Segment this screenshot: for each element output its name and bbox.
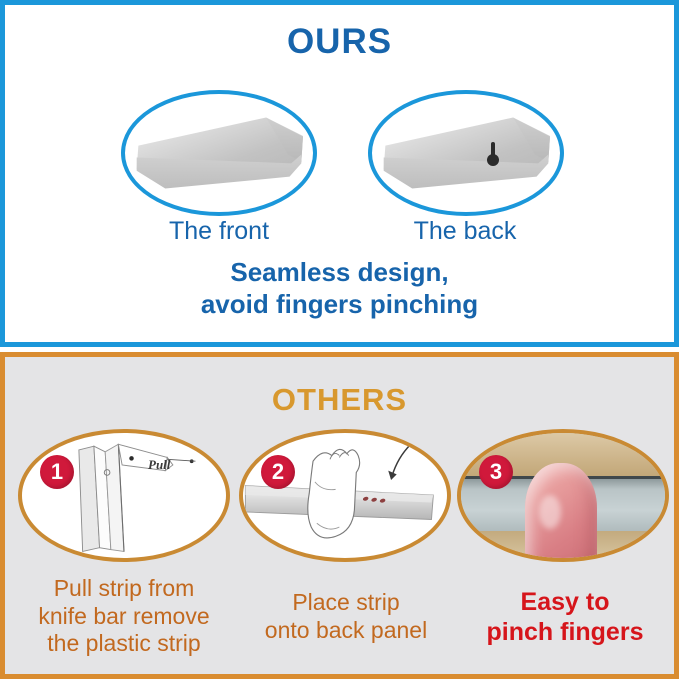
step-badge-3: 3 [479,455,513,489]
step-badge-1: 1 [40,455,74,489]
caption-line: knife bar remove [10,603,238,631]
caption-line: pinch fingers [453,617,677,647]
comparison-infographic: OURS The front The back [0,0,679,679]
ours-caption-front: The front [104,217,334,246]
finger-pinched-photo [457,429,669,562]
others-caption-2: Place strip onto back panel [233,589,459,644]
knife-bar-peel-strip-illustration [22,433,226,558]
pull-annotation: Pull [148,457,170,473]
keyhole-icon [486,142,499,172]
others-caption-3: Easy to pinch fingers [453,587,677,647]
pinched-finger [525,463,597,562]
others-step-2: 2 [239,429,451,562]
caption-line: the plastic strip [10,630,238,658]
ours-caption-back: The back [350,217,580,246]
ours-title: OURS [5,22,674,62]
others-caption-1: Pull strip from knife bar remove the pla… [10,575,238,658]
others-step-3: 3 [457,429,669,562]
oval-frame-orange [239,429,451,562]
others-title: OTHERS [5,382,674,418]
ours-headline-line1: Seamless design, [230,257,448,287]
caption-line: onto back panel [233,617,459,645]
others-panel: OTHERS Pull 1 [0,352,679,679]
ours-headline-line2: avoid fingers pinching [5,289,674,321]
caption-line: Place strip [233,589,459,617]
finger-highlight [539,495,561,529]
knife-bar-back-icon [382,116,550,190]
oval-frame-orange: Pull [18,429,230,562]
knife-bar-front-icon [135,116,303,190]
caption-line: Easy to [453,587,677,617]
ours-product-back [368,90,564,216]
step-badge-2: 2 [261,455,295,489]
hand-placing-strip-illustration [243,433,447,558]
caption-line: Pull strip from [10,575,238,603]
others-step-1: Pull 1 [18,429,230,562]
keyhole-bulb [487,154,499,166]
ours-headline: Seamless design, avoid fingers pinching [5,257,674,320]
ours-panel: OURS The front The back [0,0,679,347]
ours-product-front [121,90,317,216]
